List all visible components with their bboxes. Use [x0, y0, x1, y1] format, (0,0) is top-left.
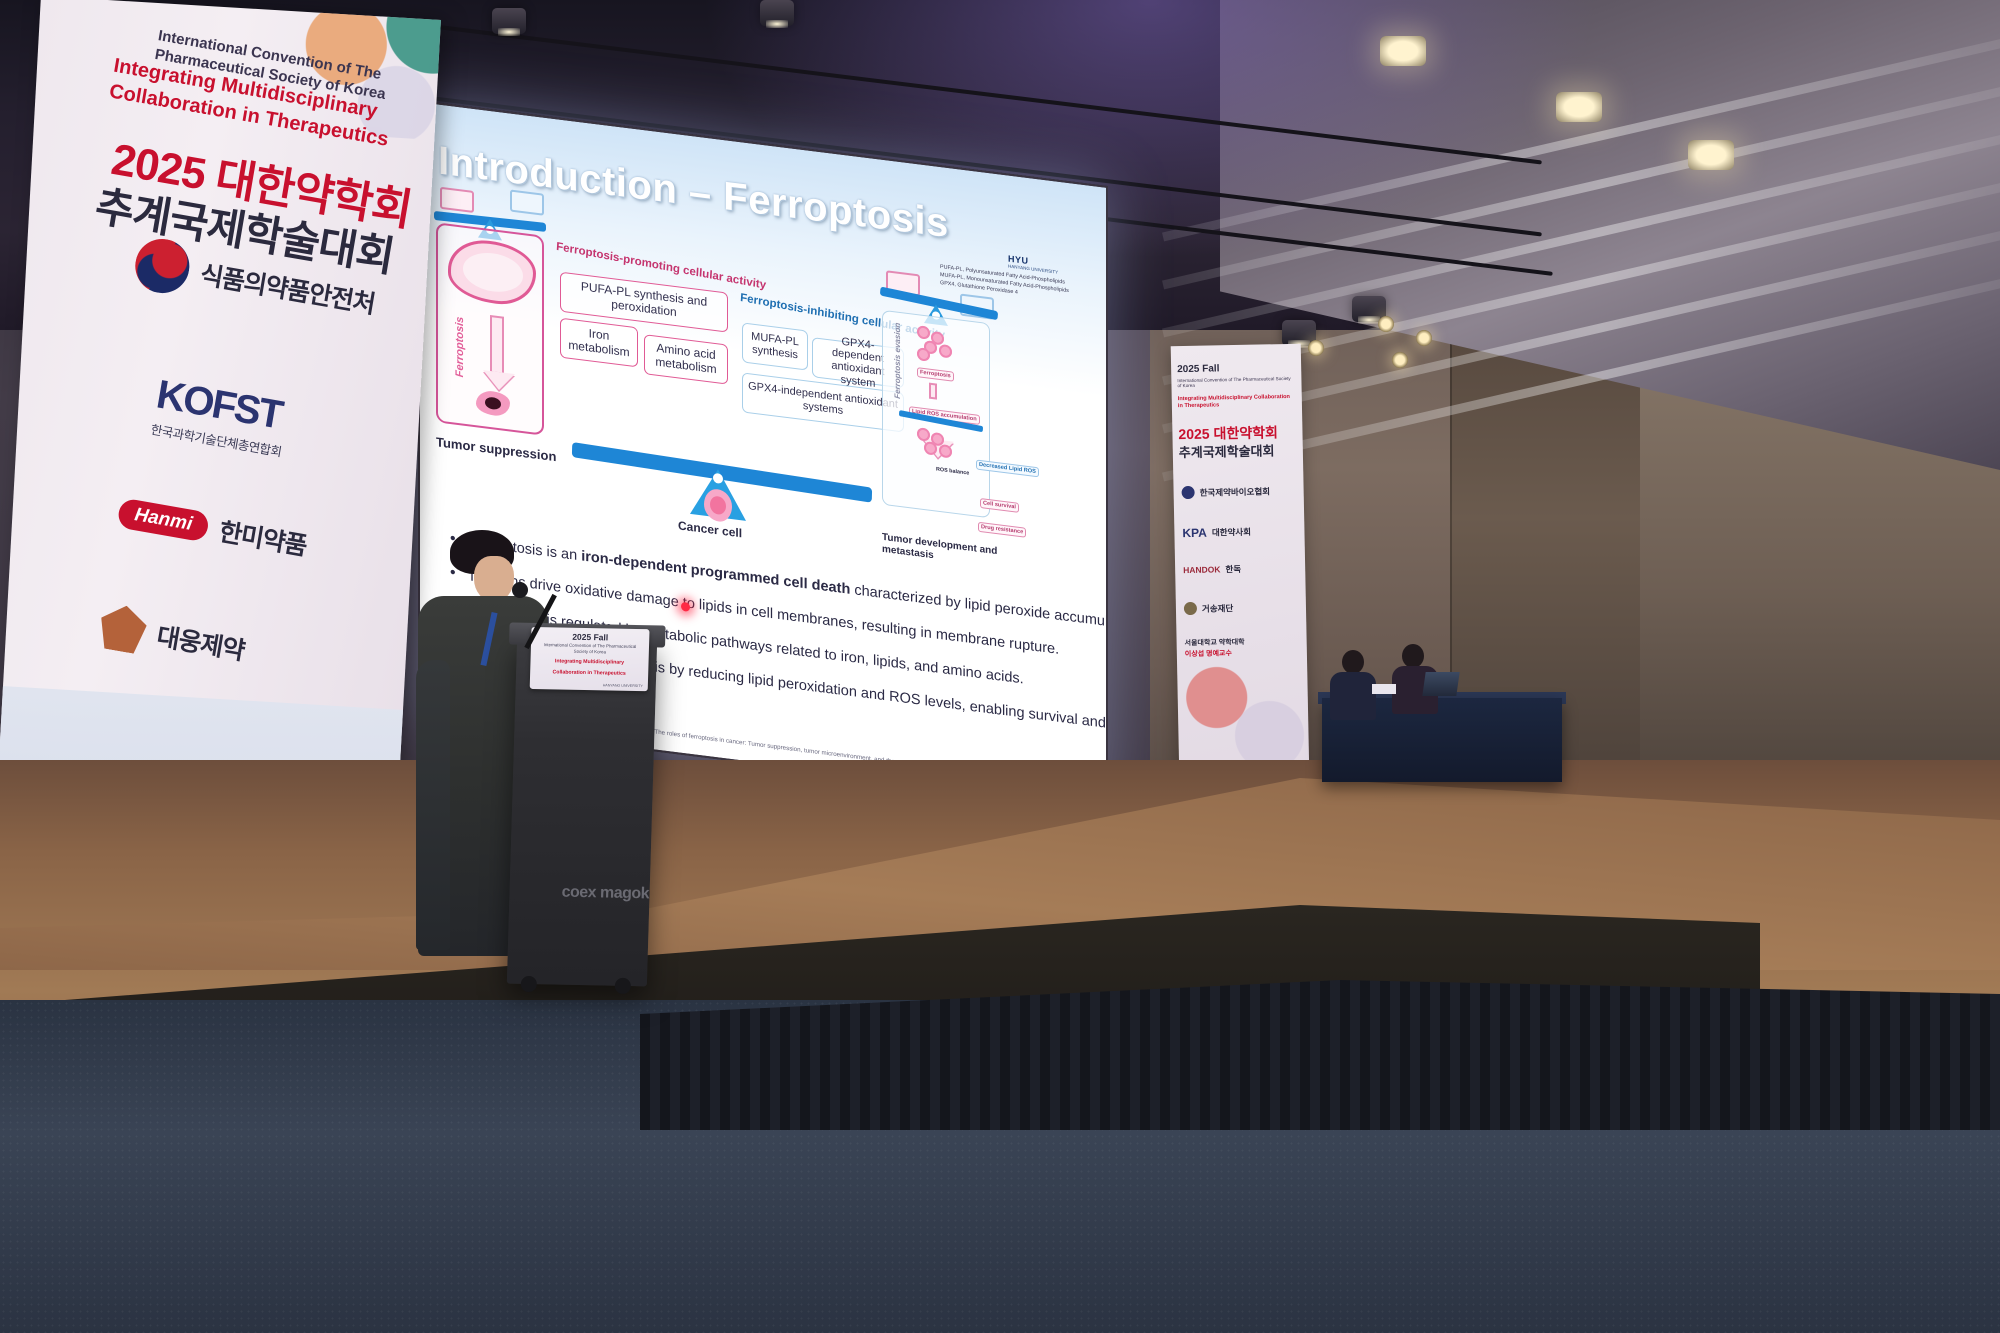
panelist-head	[1402, 644, 1424, 668]
podium-sign: 2025 Fall International Convention of Th…	[530, 627, 650, 691]
right-banner-year: 2025 Fall	[1177, 363, 1219, 375]
right-banner-subtitle-kr: 추계국제학술대회	[1179, 440, 1275, 461]
panelist-torso	[1330, 672, 1376, 720]
daewoong-icon	[96, 602, 149, 655]
spotlight-lens	[1392, 352, 1408, 368]
inhibiting-box-0: MUFA-PL synthesis	[742, 322, 808, 370]
cancer-cell-fulcrum	[690, 466, 746, 521]
ceiling-light	[1556, 92, 1602, 122]
spotlight-lens	[1308, 340, 1324, 356]
speaker-arm	[416, 660, 450, 950]
sponsor-kofst: KOFST 한국과학기술단체총연합회	[150, 372, 291, 460]
promoting-box-1: Iron metabolism	[560, 318, 638, 368]
spotlight-lens	[1416, 330, 1432, 346]
venue-logo: coex magok	[561, 885, 649, 902]
ceiling-light	[1380, 36, 1426, 66]
right-sponsor-1: KPA 대한약사회	[1182, 525, 1251, 540]
conference-hall-scene: Introduction – Ferroptosis Ferroptosis T…	[0, 0, 2000, 1333]
taeguk-icon	[131, 235, 193, 298]
sponsor-dot-icon	[1182, 486, 1195, 499]
tumor-suppression-caption: Tumor suppression	[436, 434, 556, 464]
right-sponsor-1-label: 대한약사회	[1212, 526, 1251, 539]
right-sponsor-2-mark: HANDOK	[1183, 564, 1221, 575]
podium-sign-theme-1: Integrating Multidisciplinary	[535, 658, 643, 667]
right-sponsor-2-label: 한독	[1225, 563, 1241, 575]
ferroptosis-vertical-label: Ferroptosis	[454, 316, 466, 378]
mini-box-blue	[510, 189, 544, 215]
name-card	[1372, 684, 1396, 694]
down-arrow-icon-right	[929, 383, 937, 400]
right-banner-illustration	[1177, 644, 1310, 777]
spotlight-lens	[1378, 316, 1394, 332]
sponsor-daewoong: 대웅제약	[96, 602, 248, 673]
spotlight	[760, 0, 794, 26]
right-sponsor-0: 한국제약바이오협회	[1182, 484, 1271, 499]
mini-box-pink	[440, 187, 474, 213]
spotlight	[492, 8, 526, 34]
right-sponsor-1-mark: KPA	[1182, 526, 1207, 540]
right-sponsor-0-label: 한국제약바이오협회	[1200, 485, 1271, 498]
ferroptosis-evasion-label: Ferroptosis evasion	[893, 322, 902, 399]
podium-sign-university: HANYANG UNIVERSITY	[535, 682, 643, 689]
tag-drug-resistance: Drug resistance	[978, 522, 1026, 538]
sponsor-daewoong-label: 대웅제약	[154, 617, 247, 668]
right-sponsor-3-label: 거송재단	[1202, 602, 1234, 615]
down-arrow-icon	[490, 315, 504, 375]
tumor-blob-icon	[448, 236, 536, 309]
sponsor-dot-icon-2	[1184, 602, 1197, 615]
microphone-head	[512, 582, 528, 598]
sponsor-hanmi: Hanmi 한미약품	[116, 494, 310, 562]
tumor-suppression-panel: Ferroptosis	[436, 222, 544, 435]
sponsor-hanmi-label: Hanmi	[116, 497, 210, 542]
laser-pointer-dot	[681, 602, 690, 612]
laptop	[1422, 672, 1459, 696]
right-sponsor-3: 거송재단	[1184, 601, 1234, 615]
ceiling-light	[1688, 140, 1734, 170]
right-sponsor-2: HANDOK 한독	[1183, 563, 1241, 576]
promoting-box-2: Amino acid metabolism	[644, 334, 728, 384]
cancer-cell-caption: Cancer cell	[678, 518, 742, 540]
tumor-development-panel: Ferroptosis evasion Ferroptosis Lipid RO…	[882, 310, 990, 518]
tumor-development-caption: Tumor development and metastasis	[882, 532, 1002, 571]
tag-ferroptosis: Ferroptosis	[917, 367, 954, 382]
panelist-head	[1342, 650, 1364, 674]
podium-sign-theme-2: Collaboration in Therapeutics	[535, 669, 643, 678]
right-banner-theme: Integrating Multidisciplinary Collaborat…	[1178, 394, 1294, 411]
podium: 2025 Fall International Convention of Th…	[507, 639, 657, 987]
sponsor-hanmi-sub: 한미약품	[217, 512, 310, 563]
right-banner: 2025 Fall International Convention of Th…	[1171, 344, 1310, 777]
dead-cell-icon	[476, 389, 510, 417]
right-banner-org: International Convention of The Pharmace…	[1177, 376, 1293, 388]
podium-sign-org: International Convention of The Pharmace…	[536, 642, 644, 656]
